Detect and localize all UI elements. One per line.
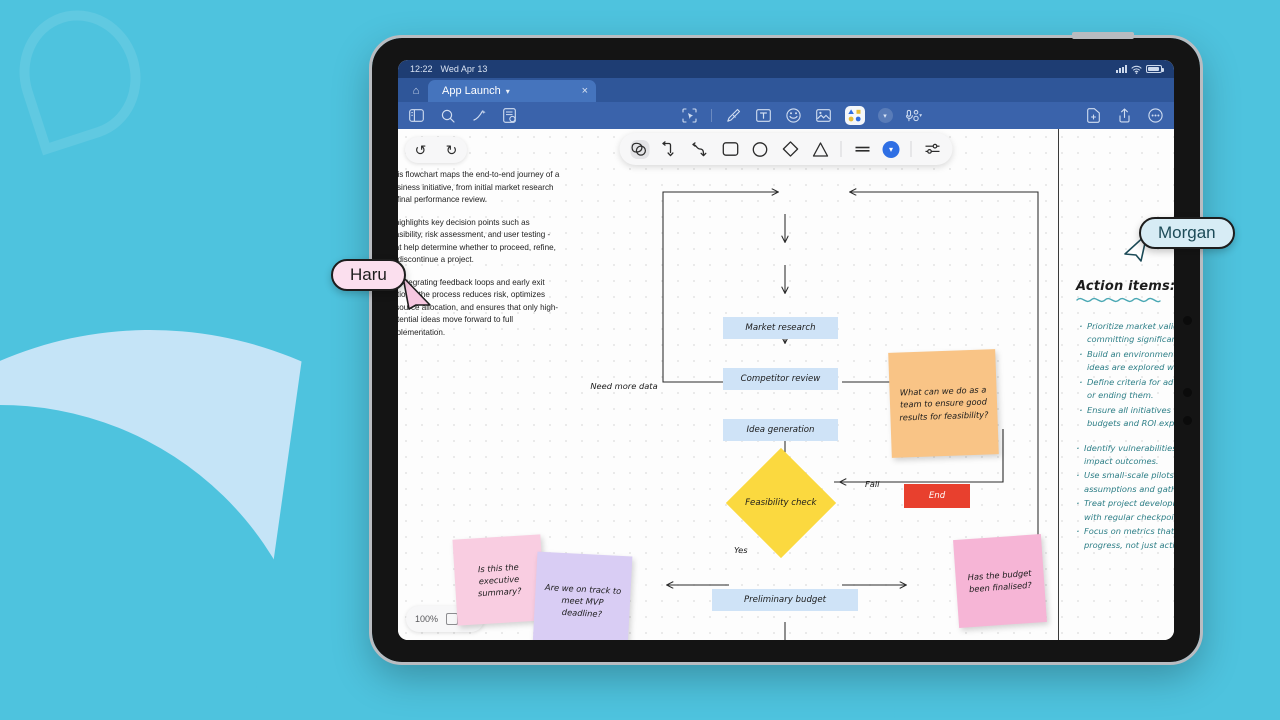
action-item: Focus on metrics that show real progress… <box>1076 525 1174 552</box>
tab-bar: ⌂ App Launch ▾ × <box>398 78 1174 102</box>
action-items-panel[interactable]: Action items: Prioritize market validati… <box>1076 279 1174 553</box>
image-icon[interactable] <box>815 107 832 124</box>
home-icon[interactable]: ⌂ <box>404 80 428 102</box>
toolbar-divider <box>711 109 712 122</box>
edge-label-yes-1: Yes <box>734 545 748 555</box>
wifi-icon <box>1131 65 1142 74</box>
action-items-group-2: Identify vulnerabilities early before th… <box>1076 442 1174 553</box>
sticker-icon[interactable] <box>785 107 802 124</box>
close-icon[interactable]: × <box>582 85 588 97</box>
page-notes-icon[interactable] <box>501 107 518 124</box>
action-item: Build an environment where multiple idea… <box>1076 348 1174 375</box>
sticky-note-mvp-deadline[interactable]: Are we on track to meet MVP deadline? <box>533 552 633 640</box>
sticky-note-feasibility-question[interactable]: What can we do as a team to ensure good … <box>888 349 999 458</box>
svg-text:▾: ▾ <box>919 112 922 118</box>
add-page-icon[interactable] <box>1085 107 1102 124</box>
node-label: Preliminary budget <box>744 595 826 605</box>
magic-wand-icon[interactable] <box>470 107 487 124</box>
node-label: Idea generation <box>746 425 814 435</box>
volume-up-button[interactable] <box>1183 316 1192 325</box>
collaborator-name: Haru <box>350 265 387 285</box>
app-toolbar: ▾ ▾ <box>398 102 1174 129</box>
tablet-device: 12:22 Wed Apr 13 ⌂ App Launch ▾ × <box>372 38 1200 662</box>
status-time: 12:22 <box>410 64 433 74</box>
lasso-select-icon[interactable] <box>681 107 698 124</box>
tablet-screen: 12:22 Wed Apr 13 ⌂ App Launch ▾ × <box>398 60 1174 640</box>
search-icon[interactable] <box>439 107 456 124</box>
action-item: Identify vulnerabilities early before th… <box>1076 442 1174 469</box>
battery-icon <box>1146 65 1162 73</box>
action-item: Treat project development as iterative w… <box>1076 497 1174 524</box>
node-label: End <box>929 491 945 501</box>
side-button[interactable] <box>1183 416 1192 425</box>
flow-node-market-research[interactable]: Market research <box>723 317 838 339</box>
edge-label-fail: Fail <box>865 479 879 489</box>
sticky-note-exec-summary[interactable]: Is this the executive summary? <box>452 534 545 625</box>
node-label: Competitor review <box>741 374 821 384</box>
action-item: Prioritize market validation before comm… <box>1076 320 1174 347</box>
signal-icon <box>1116 65 1127 73</box>
shapes-icon[interactable] <box>845 106 865 125</box>
pen-icon[interactable] <box>725 107 742 124</box>
action-item: Ensure all initiatives are tied to reali… <box>1076 404 1174 431</box>
flow-node-competitor-review[interactable]: Competitor review <box>723 368 838 390</box>
action-items-group-1: Prioritize market validation before comm… <box>1076 320 1174 431</box>
action-items-title: Action items: <box>1076 279 1174 294</box>
microphone-icon[interactable]: ▾ <box>906 107 923 124</box>
collaborator-badge-morgan[interactable]: Morgan <box>1139 217 1235 249</box>
node-label: Market research <box>745 323 815 333</box>
sidebar-icon[interactable] <box>408 107 425 124</box>
status-date: Wed Apr 13 <box>441 64 488 74</box>
whiteboard-canvas[interactable]: ↺ ↻ <box>398 129 1174 640</box>
text-box-icon[interactable] <box>755 107 772 124</box>
power-button[interactable] <box>1072 32 1134 39</box>
collaborator-badge-haru[interactable]: Haru <box>331 259 406 291</box>
chevron-down-icon[interactable]: ▾ <box>878 108 893 123</box>
action-item: Use small-scale pilots to validate assum… <box>1076 469 1174 496</box>
cursor-arrow-haru <box>400 275 434 311</box>
flow-node-end-fail[interactable]: End <box>904 484 970 508</box>
edge-label-need-more-data: Need more data <box>589 381 659 392</box>
sticky-note-budget-finalised[interactable]: Has the budget been finalised? <box>953 534 1047 628</box>
tab-label: App Launch <box>442 85 501 97</box>
more-icon[interactable] <box>1147 107 1164 124</box>
volume-down-button[interactable] <box>1183 388 1192 397</box>
flow-node-preliminary-budget[interactable]: Preliminary budget <box>712 589 858 611</box>
chevron-down-icon[interactable]: ▾ <box>506 87 510 96</box>
action-item: Define criteria for advancing, revising,… <box>1076 376 1174 403</box>
collaborator-name: Morgan <box>1158 223 1216 243</box>
tab-app-launch[interactable]: App Launch ▾ × <box>428 80 596 102</box>
node-label: Feasibility check <box>745 498 816 508</box>
share-icon[interactable] <box>1116 107 1133 124</box>
underline-squiggle <box>1076 296 1168 303</box>
background-faint-shape <box>3 0 157 155</box>
status-bar: 12:22 Wed Apr 13 <box>398 60 1174 78</box>
flow-node-idea-generation[interactable]: Idea generation <box>723 419 838 441</box>
